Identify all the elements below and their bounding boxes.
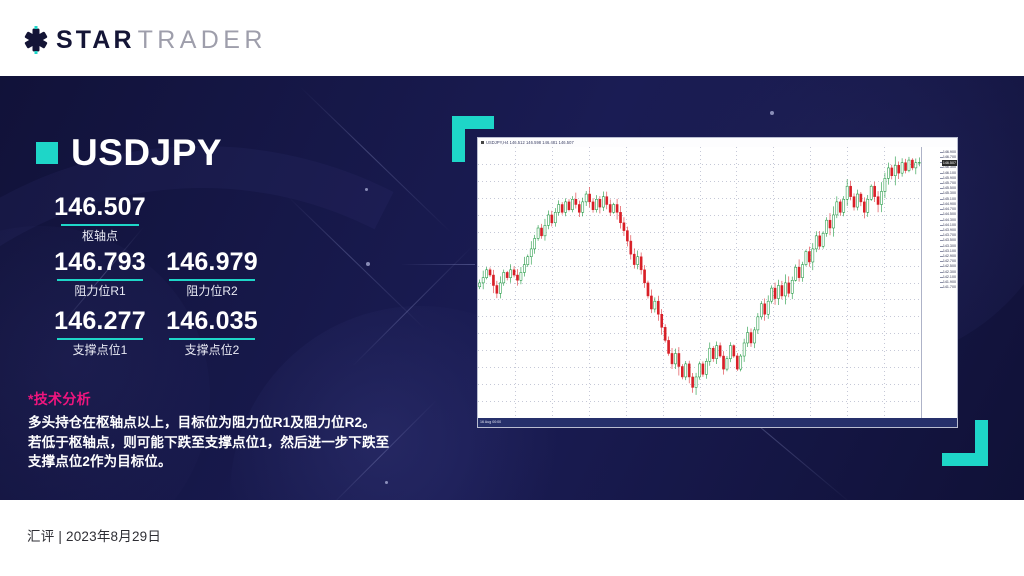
decor-dot: [770, 111, 774, 115]
level-underline: [61, 224, 139, 226]
chart-title-text: USDJPY,H4 146.512 146.598 146.481 146.50…: [486, 140, 574, 145]
price-tick-label: 141.700: [943, 285, 956, 290]
level-resistance-2: 146.979 阻力位R2: [148, 248, 276, 299]
level-underline: [57, 338, 143, 340]
page-footer: 汇评 | 2023年8月29日: [0, 500, 1024, 576]
level-resistance-1: 146.793 阻力位R1: [36, 248, 164, 299]
brand-name-light: TRADER: [138, 27, 267, 53]
status-bar-label: 16 Aug 00:00: [480, 418, 501, 427]
level-support-1: 146.277 支撑点位1: [36, 307, 164, 358]
level-value: 146.277: [36, 307, 164, 336]
price-tick-label: 144.500: [943, 212, 956, 217]
page-title: USDJPY: [71, 134, 222, 171]
level-value: 146.793: [36, 248, 164, 277]
hero-stage: USDJPY 146.507 枢轴点 146.793 阻力位R1 146.979…: [0, 76, 1024, 500]
instrument-header: USDJPY: [36, 134, 222, 171]
footer-caption: 汇评 | 2023年8月29日: [27, 527, 161, 547]
window-icon: [481, 141, 484, 144]
level-label: 枢轴点: [40, 229, 160, 244]
brand-name-bold: STAR: [56, 27, 135, 53]
chart-status-bar: 16 Aug 00:00: [478, 418, 957, 427]
asterisk-star-icon: [23, 27, 49, 53]
price-axis[interactable]: 146.900146.700146.500146.300146.100145.9…: [921, 147, 957, 418]
page-header: STAR TRADER: [0, 0, 1024, 76]
price-tick-label: 142.900: [943, 254, 956, 259]
square-bullet-icon: [36, 142, 58, 164]
level-label: 阻力位R2: [148, 284, 276, 299]
analysis-line: 多头持仓在枢轴点以上，目标位为阻力位R1及阻力位R2。: [28, 413, 398, 433]
level-label: 阻力位R1: [36, 284, 164, 299]
level-underline: [169, 279, 255, 281]
technical-analysis-block: *技术分析 多头持仓在枢轴点以上，目标位为阻力位R1及阻力位R2。 若低于枢轴点…: [28, 390, 398, 472]
price-tick-label: 146.300: [943, 165, 956, 170]
chart-panel: USDJPY,H4 146.512 146.598 146.481 146.50…: [452, 116, 992, 466]
level-value: 146.979: [148, 248, 276, 277]
level-label: 支撑点位2: [148, 343, 276, 358]
poster-root: STAR TRADER USDJPY 146.507: [0, 0, 1024, 576]
level-pivot: 146.507 枢轴点: [40, 193, 160, 244]
analysis-line: 若低于枢轴点，则可能下跌至支撑点位1，然后进一步下跌至: [28, 433, 398, 453]
level-value: 146.507: [40, 193, 160, 222]
analysis-title: *技术分析: [28, 390, 398, 408]
level-value: 146.035: [148, 307, 276, 336]
current-price-marker: 146.507: [942, 160, 957, 166]
brand-logo: STAR TRADER: [23, 27, 267, 53]
level-support-2: 146.035 支撑点位2: [148, 307, 276, 358]
analysis-body: 多头持仓在枢轴点以上，目标位为阻力位R1及阻力位R2。 若低于枢轴点，则可能下跌…: [28, 413, 398, 472]
level-underline: [57, 279, 143, 281]
trading-chart-window[interactable]: USDJPY,H4 146.512 146.598 146.481 146.50…: [477, 137, 958, 428]
level-label: 支撑点位1: [36, 343, 164, 358]
analysis-line: 支撑点位2作为目标位。: [28, 452, 398, 472]
info-panel: USDJPY 146.507 枢轴点 146.793 阻力位R1 146.979…: [0, 76, 430, 500]
candlestick-series: [478, 147, 921, 418]
chart-plot-area[interactable]: [478, 147, 921, 418]
level-underline: [169, 338, 255, 340]
